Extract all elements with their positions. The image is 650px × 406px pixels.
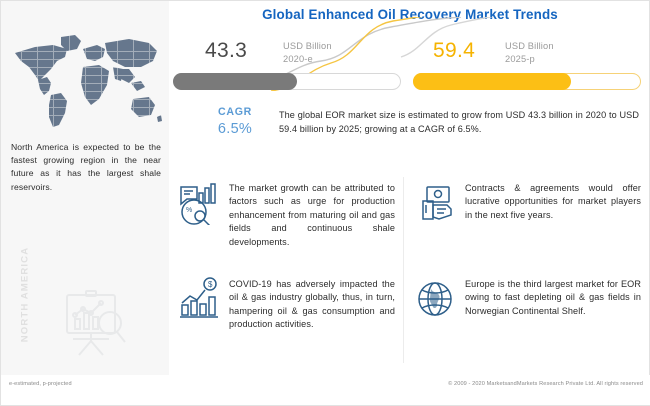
chart-magnifier-percent-icon: % <box>177 181 221 225</box>
cagr-label: CAGR <box>197 106 273 118</box>
svg-text:$: $ <box>208 280 213 289</box>
cagr-value: 6.5% <box>197 121 273 137</box>
metric-2025-caption: USD Billion 2025-p <box>505 40 554 66</box>
metric-2020-caption: USD Billion 2020-e <box>283 40 332 66</box>
insight-card-contracts-text: Contracts & agreements would offer lucra… <box>465 181 641 222</box>
insight-card-europe: Europe is the third largest market for E… <box>413 277 641 321</box>
footer-copyright: © 2009 - 2020 MarketsandMarkets Research… <box>448 381 643 387</box>
insight-card-market-growth: % The market growth can be attributed to… <box>177 181 395 249</box>
left-panel: North America is expected to be the fast… <box>1 1 169 375</box>
progress-bar-2020 <box>173 73 401 90</box>
column-divider <box>403 177 404 363</box>
metric-2020-value: 43.3 <box>205 39 247 63</box>
infographic-page: North America is expected to be the fast… <box>0 0 650 406</box>
cagr-block: CAGR 6.5% <box>197 106 273 137</box>
insight-card-market-growth-text: The market growth can be attributed to f… <box>229 181 395 249</box>
region-description: North America is expected to be the fast… <box>11 141 161 194</box>
footer-note: e-estimated, p-projected <box>9 381 72 387</box>
metric-2020-unit: USD Billion <box>283 40 332 53</box>
market-summary-text: The global EOR market size is estimated … <box>279 109 639 136</box>
metric-2025-value: 59.4 <box>433 39 475 63</box>
globe-icon <box>413 277 457 321</box>
page-title: Global Enhanced Oil Recovery Market Tren… <box>169 7 650 22</box>
metric-2025: 59.4 USD Billion 2025-p <box>419 39 649 71</box>
progress-bar-2020-fill <box>173 73 297 90</box>
hand-money-icon <box>413 181 457 225</box>
metric-2025-unit: USD Billion <box>505 40 554 53</box>
region-vertical-label: NORTH AMERICA <box>20 243 31 347</box>
insight-card-europe-text: Europe is the third largest market for E… <box>465 277 641 318</box>
svg-text:%: % <box>186 207 192 214</box>
insight-card-covid: $ COVID-19 has adversely impacted the oi… <box>177 277 395 332</box>
insight-card-contracts: Contracts & agreements would offer lucra… <box>413 181 641 225</box>
progress-bar-2025 <box>413 73 641 90</box>
insight-card-covid-text: COVID-19 has adversely impacted the oil … <box>229 277 395 332</box>
presentation-chart-magnifier-icon <box>53 289 137 361</box>
bar-chart-dollar-icon: $ <box>177 277 221 321</box>
metric-2020-period: 2020-e <box>283 53 332 66</box>
progress-bar-2025-fill <box>413 73 571 90</box>
footer: e-estimated, p-projected © 2009 - 2020 M… <box>1 375 650 405</box>
metric-2020: 43.3 USD Billion 2020-e <box>187 39 437 71</box>
world-map-icon <box>5 23 165 133</box>
metric-2025-period: 2025-p <box>505 53 554 66</box>
